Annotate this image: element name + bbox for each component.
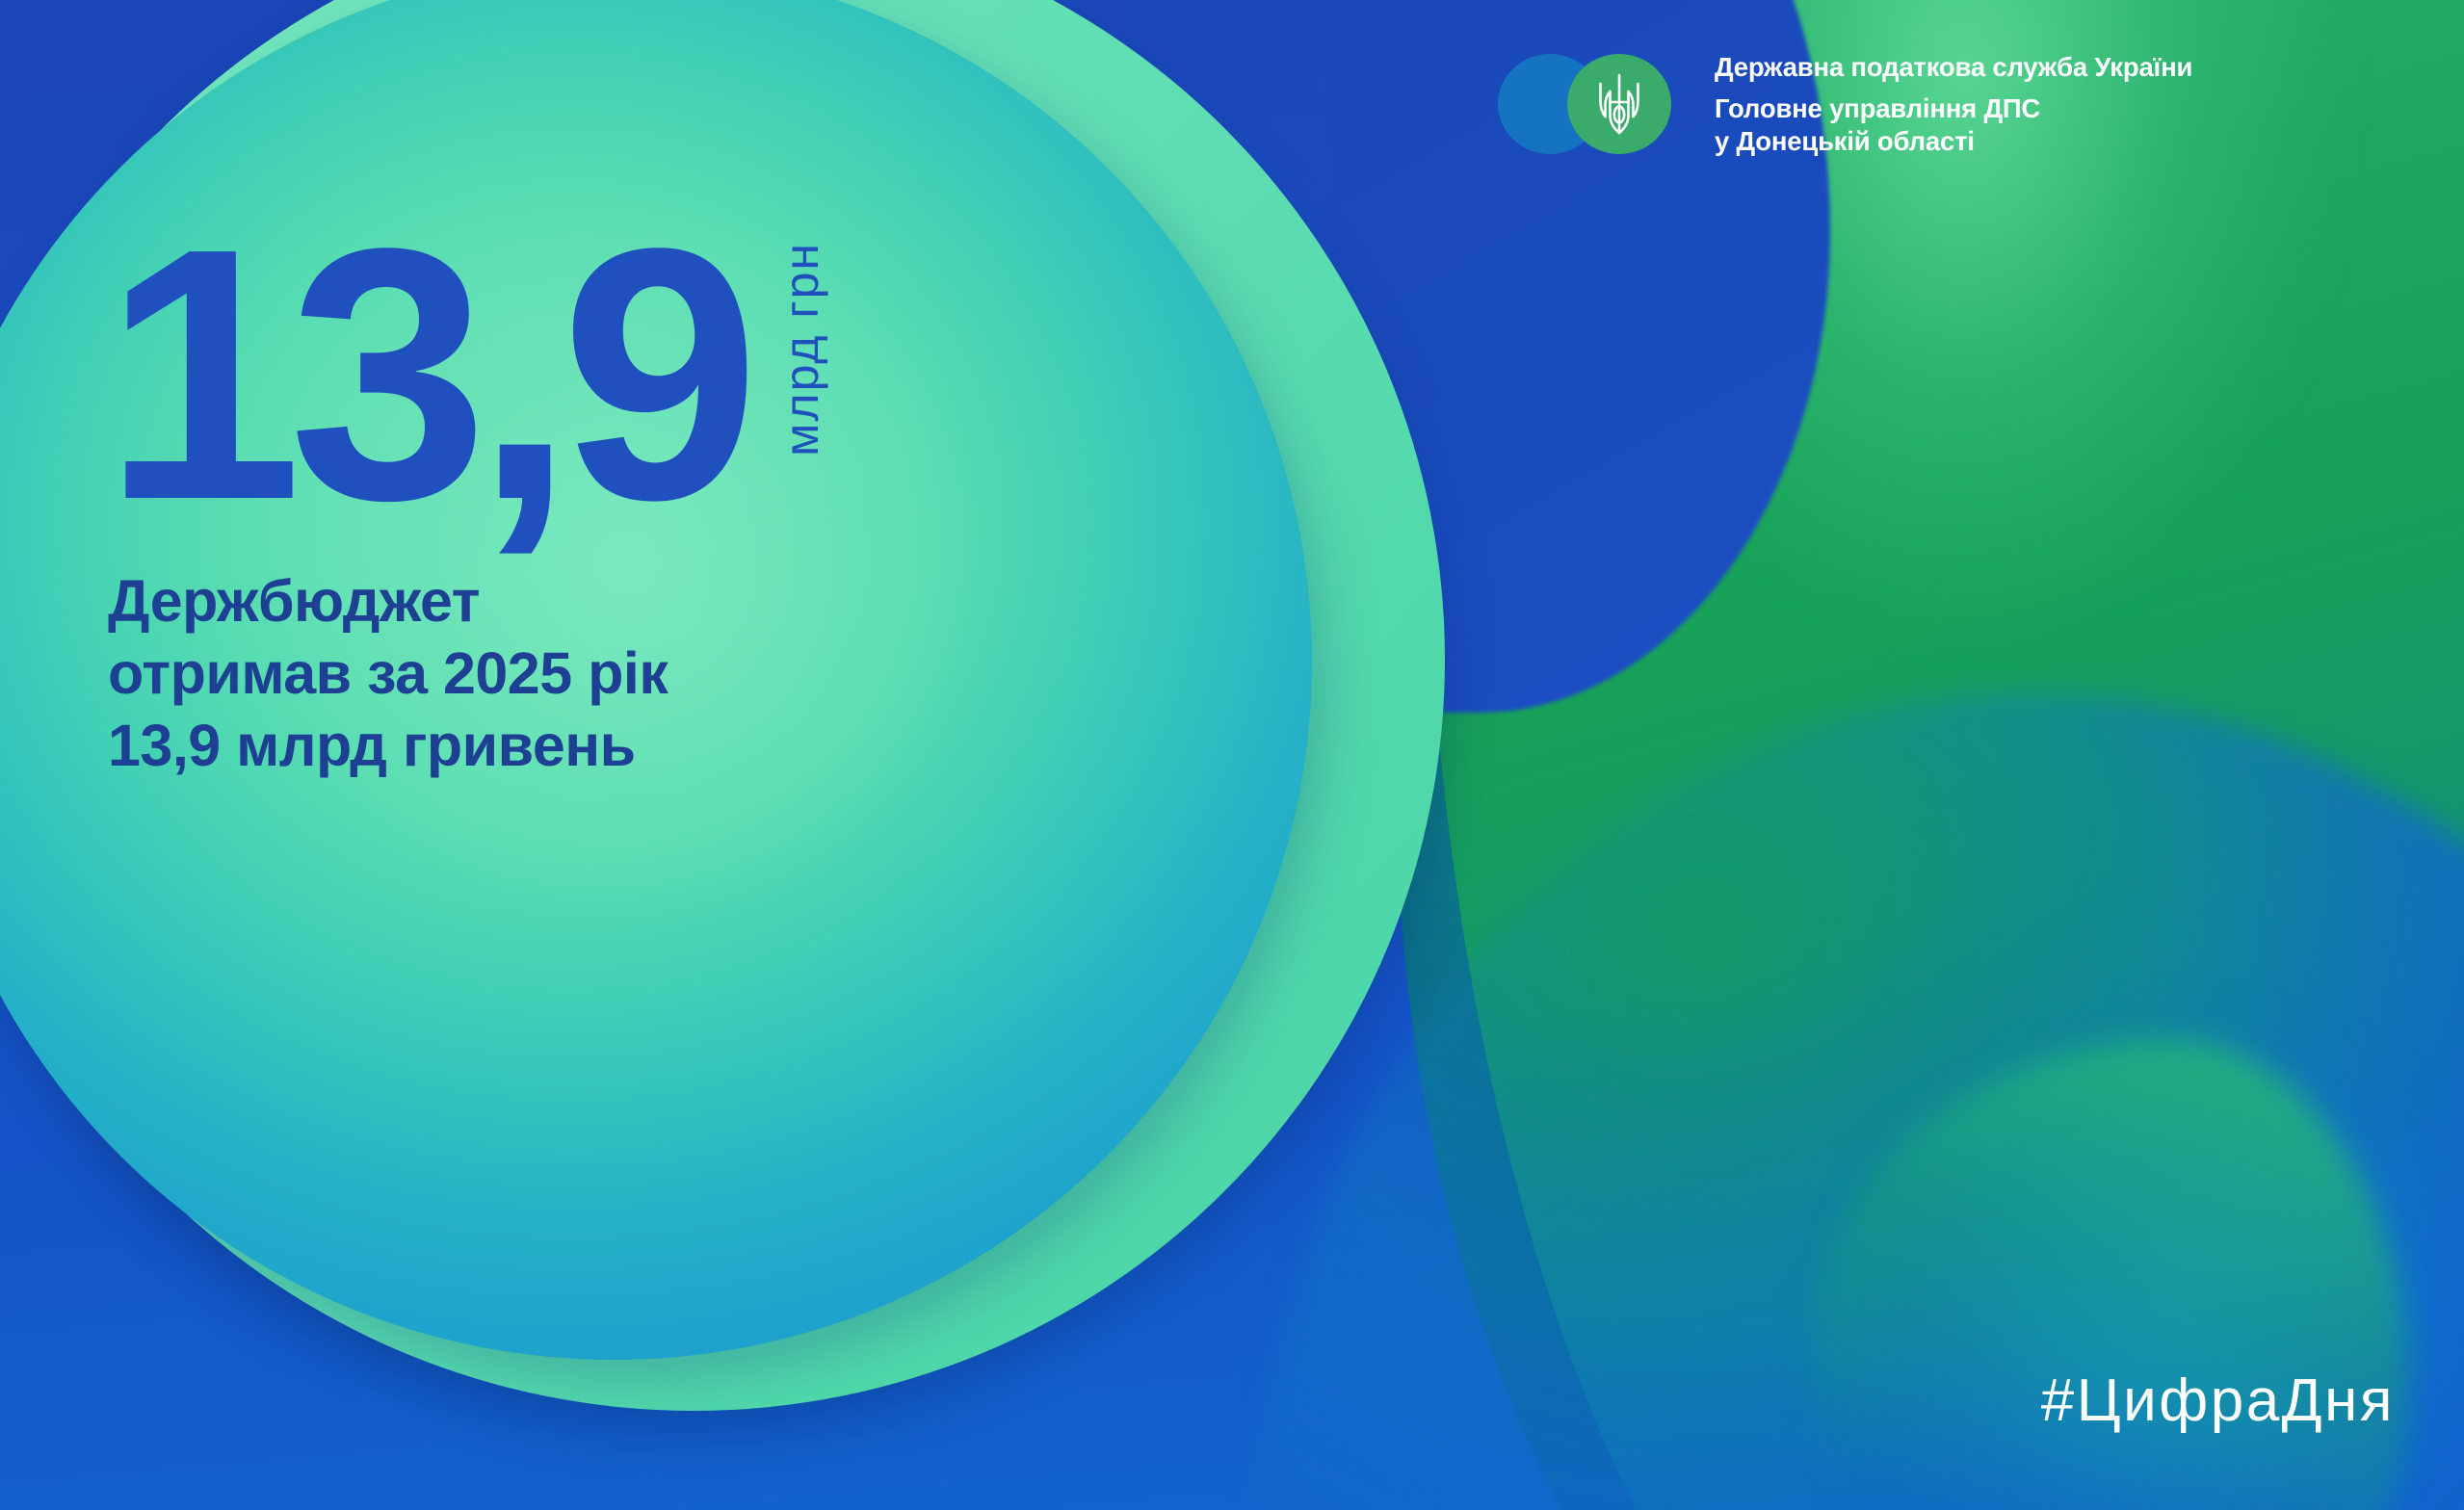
- logo-green-circle-icon: [1567, 54, 1671, 154]
- organization-logo: Державна податкова служба України Головн…: [1498, 45, 2192, 159]
- ukrainian-trident-icon: [1594, 72, 1644, 136]
- highlight-caption: Держбюджет отримав за 2025 рік 13,9 млрд…: [108, 565, 668, 782]
- logo-subtitle-line: Головне управління ДПС у Донецькій облас…: [1715, 92, 2192, 159]
- logo-marks: [1498, 45, 1705, 149]
- logo-title-line: Державна податкова служба України: [1715, 50, 2192, 86]
- highlight-unit-label: млрд грн: [773, 242, 829, 456]
- hashtag-label: #ЦифраДня: [2041, 1367, 2395, 1435]
- logo-text-block: Державна податкова служба України Головн…: [1715, 45, 2192, 159]
- disc-content: 13,9 млрд грн Держбюджет отримав за 2025…: [0, 0, 1312, 1360]
- highlight-number: 13,9: [103, 209, 747, 538]
- inner-gradient-disc: 13,9 млрд грн Держбюджет отримав за 2025…: [0, 0, 1312, 1360]
- poster-canvas: 13,9 млрд грн Держбюджет отримав за 2025…: [0, 0, 2464, 1510]
- highlight-number-row: 13,9 млрд грн: [103, 209, 829, 538]
